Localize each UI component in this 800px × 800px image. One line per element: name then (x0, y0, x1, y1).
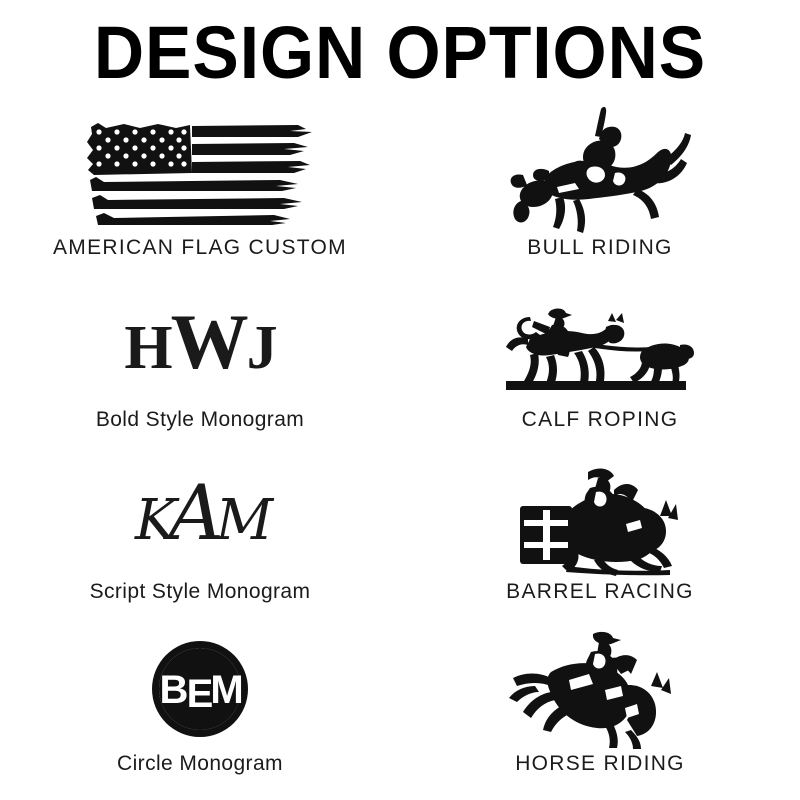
distressed-american-flag-icon (0, 112, 400, 230)
horse-riding-icon (400, 628, 800, 746)
option-label: HORSE RIDING (515, 752, 685, 776)
monogram-letter-2: A (169, 481, 216, 545)
monogram-letter-1: B (160, 668, 189, 712)
monogram-letter-3: M (216, 489, 265, 553)
script-monogram-icon: KAM (0, 456, 400, 574)
option-horse-riding[interactable]: HORSE RIDING (400, 628, 800, 800)
option-bold-style-monogram[interactable]: HWJ Bold Style Monogram (0, 284, 400, 456)
monogram-letter-3: J (247, 317, 276, 379)
bold-monogram-icon: HWJ (0, 284, 400, 402)
monogram-letter-1: K (135, 489, 169, 553)
option-circle-monogram[interactable]: B E M Circle Monogram (0, 628, 400, 800)
option-label: Script Style Monogram (90, 580, 311, 604)
barrel-racing-icon (400, 456, 800, 574)
monogram-letter-1: H (124, 317, 170, 379)
monogram-letter-3: M (210, 668, 243, 712)
calf-roping-icon (400, 284, 800, 402)
option-bull-riding[interactable]: BULL RIDING (400, 112, 800, 284)
option-label: CALF ROPING (522, 408, 679, 432)
page-title: DESIGN OPTIONS (24, 0, 776, 92)
design-options-page: DESIGN OPTIONS (0, 0, 800, 800)
option-calf-roping[interactable]: CALF ROPING (400, 284, 800, 456)
option-label: BULL RIDING (527, 236, 672, 260)
option-american-flag-custom[interactable]: AMERICAN FLAG CUSTOM (0, 112, 400, 284)
circle-monogram-icon: B E M (0, 628, 400, 746)
monogram-letter-2: E (187, 672, 214, 716)
bull-riding-icon (400, 112, 800, 230)
option-label: AMERICAN FLAG CUSTOM (53, 236, 347, 260)
option-barrel-racing[interactable]: BARREL RACING (400, 456, 800, 628)
option-label: Circle Monogram (117, 752, 283, 776)
monogram-letter-2: W (171, 311, 247, 373)
option-script-style-monogram[interactable]: KAM Script Style Monogram (0, 456, 400, 628)
option-label: BARREL RACING (506, 580, 694, 604)
design-options-grid: AMERICAN FLAG CUSTOM (0, 112, 800, 800)
option-label: Bold Style Monogram (96, 408, 304, 432)
